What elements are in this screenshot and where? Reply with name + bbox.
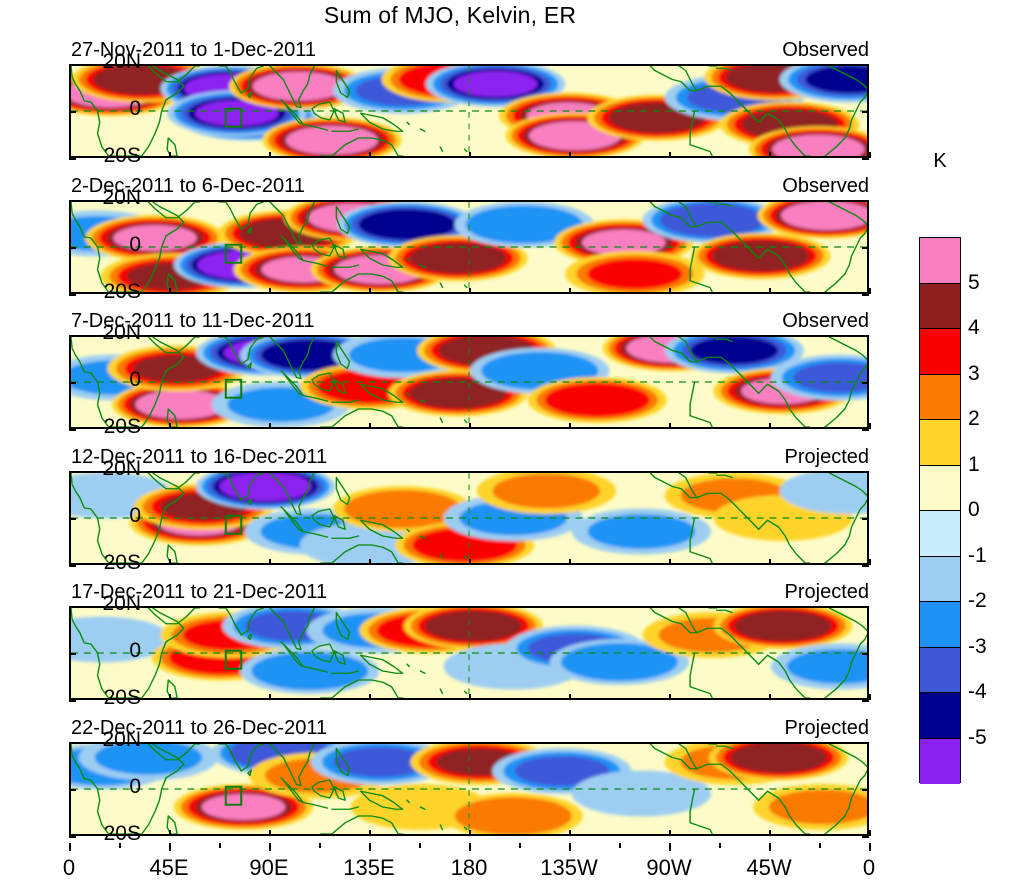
y-tick-mark <box>69 700 76 702</box>
x-tick-mark <box>169 423 171 429</box>
colorbar-tick-label: 0 <box>968 498 980 522</box>
y-tick-label: 0 <box>81 97 141 121</box>
x-tick-mark <box>769 288 771 294</box>
x-tick-mark <box>569 559 571 565</box>
x-axis-tick <box>469 843 471 851</box>
x-axis-minor-tick <box>419 843 421 848</box>
colorbar-tick-label: -2 <box>968 589 987 613</box>
x-tick-mark <box>869 830 871 836</box>
y-tick-mark <box>862 429 869 431</box>
colorbar-unit-label: K <box>919 150 961 173</box>
colorbar-band <box>920 284 960 330</box>
y-tick-mark <box>69 382 76 384</box>
x-tick-mark <box>69 830 71 836</box>
y-tick-mark <box>69 606 76 608</box>
x-tick-label: 90E <box>249 855 288 881</box>
x-tick-mark <box>869 423 871 429</box>
x-axis-minor-tick <box>219 843 221 848</box>
x-tick-mark <box>669 288 671 294</box>
x-axis-tick <box>769 843 771 851</box>
colorbar[interactable] <box>919 237 961 783</box>
map-panel: 2-Dec-2011 to 6-Dec-2011Observed <box>69 200 869 294</box>
y-tick-mark <box>69 111 76 113</box>
colorbar-band <box>920 648 960 694</box>
x-tick-mark <box>669 423 671 429</box>
x-tick-mark <box>469 423 471 429</box>
x-axis-minor-tick <box>719 843 721 848</box>
y-tick-label: 20N <box>81 457 141 481</box>
x-tick-mark <box>569 288 571 294</box>
colorbar-band <box>920 238 960 284</box>
y-tick-label: 20N <box>81 321 141 345</box>
contour-blob <box>262 656 357 686</box>
contour-field <box>71 66 867 156</box>
x-tick-mark <box>69 694 71 700</box>
x-tick-mark <box>569 830 571 836</box>
y-tick-label: 20N <box>81 50 141 74</box>
y-tick-mark <box>862 294 869 296</box>
y-tick-mark <box>69 518 76 520</box>
contour-blob <box>416 245 500 271</box>
panel-plot-area <box>69 64 869 158</box>
x-tick-mark <box>569 423 571 429</box>
figure-root: Sum of MJO, Kelvin, ER 27-Nov-2011 to 1-… <box>0 0 1015 889</box>
x-tick-mark <box>269 559 271 565</box>
y-tick-label: 0 <box>81 775 141 799</box>
x-tick-label: 135E <box>343 855 394 881</box>
contour-blob <box>258 74 339 99</box>
x-tick-mark <box>169 152 171 158</box>
x-tick-mark <box>769 694 771 700</box>
contour-blob <box>466 801 561 831</box>
x-tick-label: 135W <box>540 855 597 881</box>
x-tick-label: 0 <box>863 855 875 881</box>
contour-blob <box>741 613 825 639</box>
map-panel: 17-Dec-2011 to 21-Dec-2011Projected <box>69 606 869 700</box>
y-tick-mark <box>69 471 76 473</box>
x-axis-minor-tick <box>819 843 821 848</box>
panel-status-label: Projected <box>785 446 870 469</box>
y-tick-mark <box>69 789 76 791</box>
x-tick-label: 180 <box>451 855 488 881</box>
x-axis-tick <box>369 843 371 851</box>
contour-blob <box>202 794 286 820</box>
y-tick-mark <box>862 606 869 608</box>
y-tick-mark <box>69 836 76 838</box>
figure-title: Sum of MJO, Kelvin, ER <box>0 2 900 29</box>
y-tick-mark <box>69 335 76 337</box>
x-axis-tick <box>869 843 871 851</box>
panel-status-label: Projected <box>785 717 870 740</box>
x-axis-minor-tick <box>319 843 321 848</box>
colorbar-tick-label: 4 <box>968 316 980 340</box>
y-tick-label: 20S <box>81 551 141 575</box>
contour-blob <box>553 386 641 413</box>
colorbar-band <box>920 511 960 557</box>
colorbar-tick-label: -5 <box>968 726 987 750</box>
x-tick-label: 90W <box>646 855 691 881</box>
x-axis: 045E90E135E180135W90W45W0 <box>69 843 869 889</box>
contour-field <box>71 608 867 698</box>
x-tick-mark <box>169 694 171 700</box>
x-tick-mark <box>69 288 71 294</box>
colorbar-band <box>920 693 960 739</box>
y-tick-mark <box>69 742 76 744</box>
panel-plot-area <box>69 742 869 836</box>
panel-plot-area <box>69 606 869 700</box>
x-tick-mark <box>469 288 471 294</box>
x-axis-tick <box>269 843 271 851</box>
x-tick-label: 45E <box>149 855 188 881</box>
colorbar-band <box>920 375 960 421</box>
contour-blob <box>355 494 450 524</box>
colorbar-band <box>920 466 960 512</box>
colorbar-band <box>920 329 960 375</box>
x-axis-minor-tick <box>519 843 521 848</box>
x-tick-mark <box>69 152 71 158</box>
x-tick-mark <box>469 152 471 158</box>
panel-status-label: Observed <box>782 310 869 333</box>
panel-plot-area <box>69 200 869 294</box>
contour-blob <box>737 744 821 770</box>
x-axis-tick <box>169 843 171 851</box>
y-tick-label: 20S <box>81 280 141 304</box>
x-tick-mark <box>69 559 71 565</box>
y-tick-label: 0 <box>81 639 141 663</box>
y-tick-mark <box>862 700 869 702</box>
colorbar-tick-label: -4 <box>968 680 987 704</box>
y-tick-label: 20N <box>81 728 141 752</box>
panel-status-label: Observed <box>782 175 869 198</box>
colorbar-tick-label: -1 <box>968 544 987 568</box>
x-tick-mark <box>769 559 771 565</box>
colorbar-tick-label: 1 <box>968 453 980 477</box>
colorbar-band <box>920 420 960 466</box>
y-tick-mark <box>862 789 869 791</box>
x-tick-mark <box>469 830 471 836</box>
x-tick-mark <box>269 288 271 294</box>
x-tick-mark <box>869 288 871 294</box>
y-tick-label: 20N <box>81 186 141 210</box>
y-tick-mark <box>862 471 869 473</box>
y-tick-mark <box>862 335 869 337</box>
x-tick-mark <box>369 423 371 429</box>
contour-field <box>71 202 867 292</box>
colorbar-band <box>920 557 960 603</box>
contour-blob <box>493 473 601 508</box>
y-tick-mark <box>69 200 76 202</box>
contour-field <box>71 337 867 427</box>
y-tick-label: 0 <box>81 504 141 528</box>
x-tick-mark <box>869 694 871 700</box>
y-tick-mark <box>69 294 76 296</box>
x-tick-mark <box>269 152 271 158</box>
x-tick-mark <box>569 152 571 158</box>
y-tick-mark <box>862 247 869 249</box>
x-tick-mark <box>769 830 771 836</box>
x-tick-mark <box>469 559 471 565</box>
x-tick-mark <box>169 559 171 565</box>
x-tick-label: 45W <box>746 855 791 881</box>
y-tick-label: 20S <box>81 686 141 710</box>
y-tick-mark <box>69 429 76 431</box>
x-tick-mark <box>569 694 571 700</box>
colorbar-tick-label: 5 <box>968 271 980 295</box>
y-tick-mark <box>69 247 76 249</box>
y-tick-mark <box>69 565 76 567</box>
colorbar-band <box>920 602 960 648</box>
contour-field <box>71 473 867 563</box>
y-tick-mark <box>862 742 869 744</box>
contour-blob <box>668 206 756 233</box>
x-tick-label: 0 <box>63 855 75 881</box>
contour-blob <box>587 259 682 289</box>
y-tick-label: 20S <box>81 415 141 439</box>
contour-blob <box>477 209 572 239</box>
y-tick-mark <box>862 111 869 113</box>
y-tick-label: 0 <box>81 368 141 392</box>
x-tick-mark <box>69 423 71 429</box>
y-tick-mark <box>862 565 869 567</box>
contour-field <box>71 744 867 834</box>
contour-blob <box>432 613 516 639</box>
map-panel: 27-Nov-2011 to 1-Dec-2011Observed <box>69 64 869 158</box>
y-tick-mark <box>69 653 76 655</box>
panel-status-label: Projected <box>785 581 870 604</box>
x-tick-mark <box>369 559 371 565</box>
colorbar-tick-label: 2 <box>968 407 980 431</box>
y-tick-mark <box>862 653 869 655</box>
x-axis-tick <box>69 843 71 851</box>
x-tick-mark <box>269 694 271 700</box>
x-tick-mark <box>869 152 871 158</box>
map-panel: 12-Dec-2011 to 16-Dec-2011Projected <box>69 471 869 565</box>
map-panel: 22-Dec-2011 to 26-Dec-2011Projected <box>69 742 869 836</box>
panel-status-label: Observed <box>782 39 869 62</box>
x-tick-mark <box>769 423 771 429</box>
x-tick-mark <box>369 288 371 294</box>
x-tick-mark <box>669 559 671 565</box>
x-axis-minor-tick <box>619 843 621 848</box>
x-tick-mark <box>369 830 371 836</box>
contour-blob <box>690 337 778 364</box>
x-tick-mark <box>169 830 171 836</box>
contour-blob <box>588 514 696 549</box>
x-tick-mark <box>669 152 671 158</box>
colorbar-tick-label: -3 <box>968 635 987 659</box>
x-tick-mark <box>669 830 671 836</box>
x-axis-tick <box>569 843 571 851</box>
x-tick-mark <box>369 694 371 700</box>
contour-blob <box>572 647 667 677</box>
y-tick-mark <box>862 518 869 520</box>
contour-blob <box>225 474 306 499</box>
y-tick-mark <box>862 836 869 838</box>
colorbar-band <box>920 739 960 785</box>
contour-blob <box>588 776 696 811</box>
x-tick-mark <box>669 694 671 700</box>
y-tick-mark <box>862 200 869 202</box>
y-tick-mark <box>862 64 869 66</box>
contour-blob <box>141 392 222 417</box>
x-tick-mark <box>269 423 271 429</box>
x-tick-mark <box>769 152 771 158</box>
x-tick-mark <box>869 559 871 565</box>
y-tick-mark <box>862 382 869 384</box>
y-tick-mark <box>862 158 869 160</box>
contour-blob <box>365 211 449 237</box>
colorbar-tick-label: 3 <box>968 362 980 386</box>
y-tick-label: 0 <box>81 233 141 257</box>
x-axis-tick <box>669 843 671 851</box>
y-tick-label: 20S <box>81 144 141 168</box>
x-tick-mark <box>369 152 371 158</box>
y-tick-label: 20S <box>81 822 141 846</box>
contour-blob <box>454 71 538 97</box>
x-tick-mark <box>269 830 271 836</box>
x-tick-mark <box>469 694 471 700</box>
y-tick-label: 20N <box>81 592 141 616</box>
map-panel: 7-Dec-2011 to 11-Dec-2011Observed <box>69 335 869 429</box>
panel-plot-area <box>69 471 869 565</box>
y-tick-mark <box>69 64 76 66</box>
panel-plot-area <box>69 335 869 429</box>
x-tick-mark <box>169 288 171 294</box>
y-tick-mark <box>69 158 76 160</box>
